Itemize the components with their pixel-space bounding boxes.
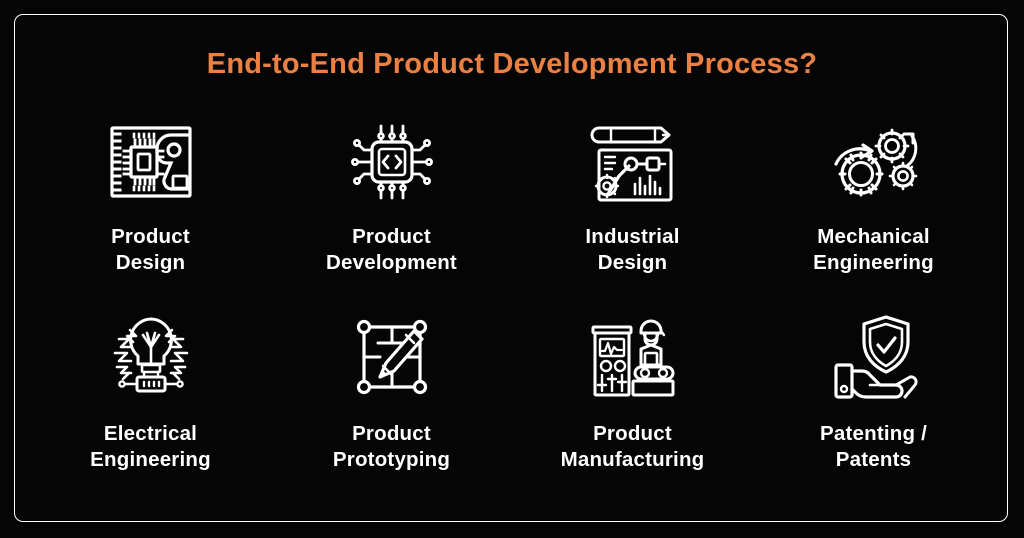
process-step-industrial-design[interactable]: Industrial Design: [512, 112, 753, 307]
process-step-product-prototyping[interactable]: Product Prototyping: [271, 307, 512, 502]
step-label: Patenting / Patents: [820, 421, 927, 473]
process-step-grid: Product Design: [30, 112, 994, 502]
process-step-patenting-patents[interactable]: Patenting / Patents: [753, 307, 994, 502]
step-label: Mechanical Engineering: [813, 224, 934, 276]
page-title: End-to-End Product Development Process?: [0, 48, 1024, 81]
process-step-mechanical-engineering[interactable]: Mechanical Engineering: [753, 112, 994, 307]
process-step-product-design[interactable]: Product Design: [30, 112, 271, 307]
step-label: Product Manufacturing: [561, 421, 705, 473]
cpu-code-chip-icon: [340, 112, 444, 212]
pencil-robotic-arm-panel-icon: [581, 112, 685, 212]
control-panel-worker-conveyor-icon: [581, 307, 685, 407]
hand-shield-check-icon: [822, 307, 926, 407]
step-label: Electrical Engineering: [90, 421, 211, 473]
step-label: Product Design: [111, 224, 190, 276]
process-step-product-manufacturing[interactable]: Product Manufacturing: [512, 307, 753, 502]
circuit-board-device-icon: [99, 112, 203, 212]
lightbulb-circuit-icon: [99, 307, 203, 407]
infographic-page: End-to-End Product Development Process?: [0, 0, 1024, 538]
step-label: Product Development: [326, 224, 457, 276]
step-label: Industrial Design: [585, 224, 679, 276]
step-label: Product Prototyping: [333, 421, 450, 473]
gears-rotation-icon: [822, 112, 926, 212]
blueprint-pencil-icon: [340, 307, 444, 407]
process-step-product-development[interactable]: Product Development: [271, 112, 512, 307]
process-step-electrical-engineering[interactable]: Electrical Engineering: [30, 307, 271, 502]
